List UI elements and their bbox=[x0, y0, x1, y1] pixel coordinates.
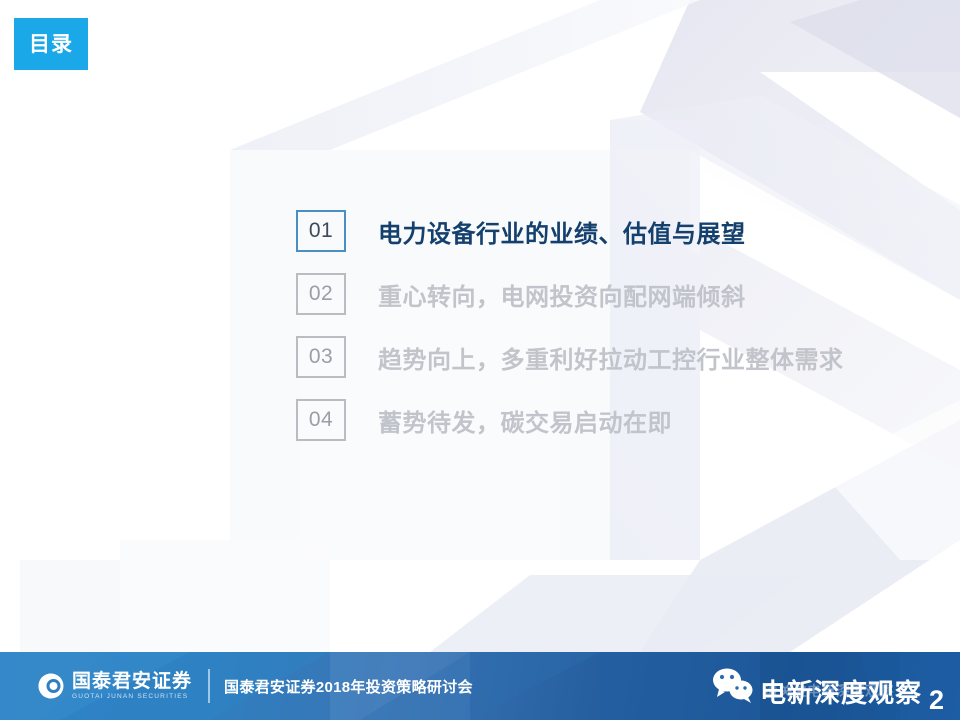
wechat-account-name: 电新深度观察 bbox=[760, 680, 922, 706]
toc-item-02[interactable]: 02 重心转向，电网投资向配网端倾斜 bbox=[296, 268, 936, 320]
toc-badge: 目录 bbox=[14, 18, 88, 70]
toc-label-03: 趋势向上，多重利好拉动工控行业整体需求 bbox=[378, 340, 844, 375]
toc-number-02: 02 bbox=[296, 273, 346, 315]
footer-logo-cn: 国泰君安证券 bbox=[72, 672, 192, 692]
toc-label-02: 重心转向，电网投资向配网端倾斜 bbox=[378, 277, 746, 312]
slide-canvas: 目录 01 电力设备行业的业绩、估值与展望 02 重心转向，电网投资向配网端倾斜… bbox=[0, 0, 960, 720]
toc-item-03[interactable]: 03 趋势向上，多重利好拉动工控行业整体需求 bbox=[296, 331, 936, 383]
toc-badge-label: 目录 bbox=[29, 34, 73, 55]
wechat-icon bbox=[710, 666, 756, 704]
toc-label-04: 蓄势待发，碳交易启动在即 bbox=[378, 403, 672, 438]
toc-list: 01 电力设备行业的业绩、估值与展望 02 重心转向，电网投资向配网端倾斜 03… bbox=[296, 205, 936, 457]
toc-item-04[interactable]: 04 蓄势待发，碳交易启动在即 bbox=[296, 394, 936, 446]
toc-number-01: 01 bbox=[296, 210, 346, 252]
toc-number-03: 03 bbox=[296, 336, 346, 378]
footer-conference-title: 国泰君安证券2018年投资策略研讨会 bbox=[224, 676, 473, 697]
toc-number-04: 04 bbox=[296, 399, 346, 441]
toc-item-01[interactable]: 01 电力设备行业的业绩、估值与展望 bbox=[296, 205, 936, 257]
page-number: 2 bbox=[929, 687, 944, 714]
guotai-junan-circle-logo bbox=[38, 673, 64, 699]
footer-logo-text: 国泰君安证券 GUOTAI JUNAN SECURITIES bbox=[72, 672, 192, 700]
footer-logo-en: GUOTAI JUNAN SECURITIES bbox=[72, 693, 192, 700]
wechat-promo: 电新深度观察 bbox=[710, 666, 922, 706]
vertical-divider bbox=[208, 669, 210, 703]
footer-brand: 国泰君安证券 GUOTAI JUNAN SECURITIES 国泰君安证券201… bbox=[38, 652, 473, 720]
toc-label-01: 电力设备行业的业绩、估值与展望 bbox=[378, 214, 746, 249]
footer-bar: 国泰君安证券 GUOTAI JUNAN SECURITIES 国泰君安证券201… bbox=[0, 652, 960, 720]
